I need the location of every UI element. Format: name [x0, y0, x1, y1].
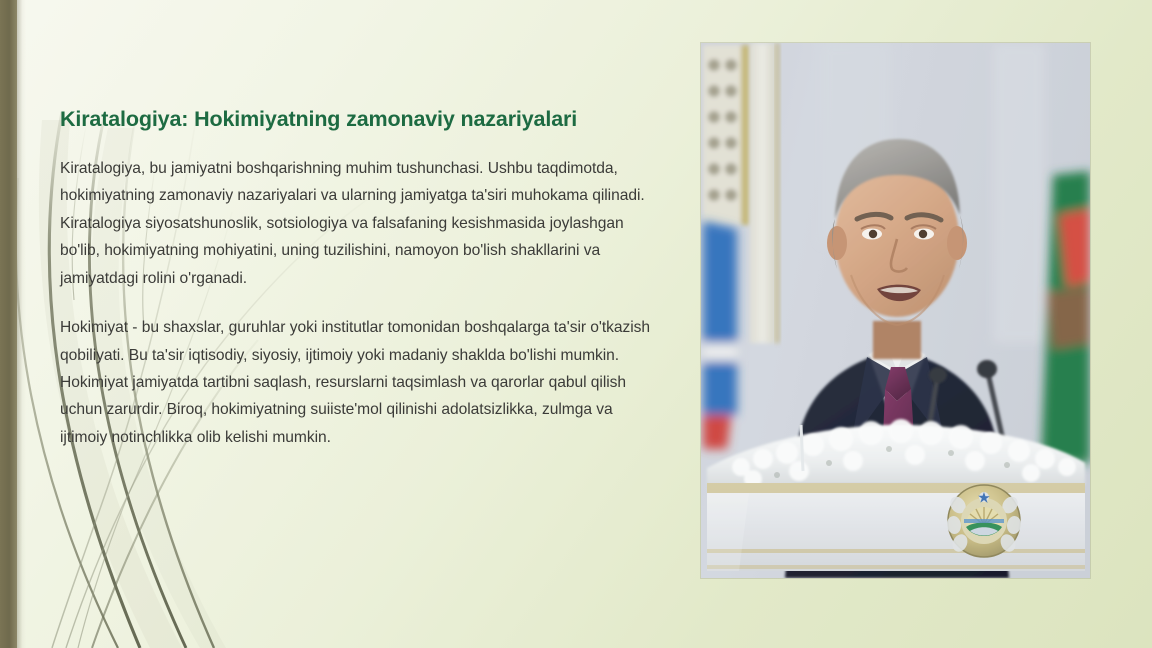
- left-accent-bar-shadow: [17, 0, 26, 648]
- presentation-slide: Kiratalogiya: Hokimiyatning zamonaviy na…: [0, 0, 1152, 648]
- body-paragraph-1: Kiratalogiya, bu jamiyatni boshqarishnin…: [60, 155, 660, 292]
- speaker-photo-illustration: [701, 43, 1090, 578]
- slide-text-column: Kiratalogiya: Hokimiyatning zamonaviy na…: [60, 106, 660, 451]
- left-accent-bar: [0, 0, 17, 648]
- page-title: Kiratalogiya: Hokimiyatning zamonaviy na…: [60, 106, 660, 133]
- body-paragraph-2: Hokimiyat - bu shaxslar, guruhlar yoki i…: [60, 314, 660, 451]
- speaker-photo: [701, 43, 1090, 578]
